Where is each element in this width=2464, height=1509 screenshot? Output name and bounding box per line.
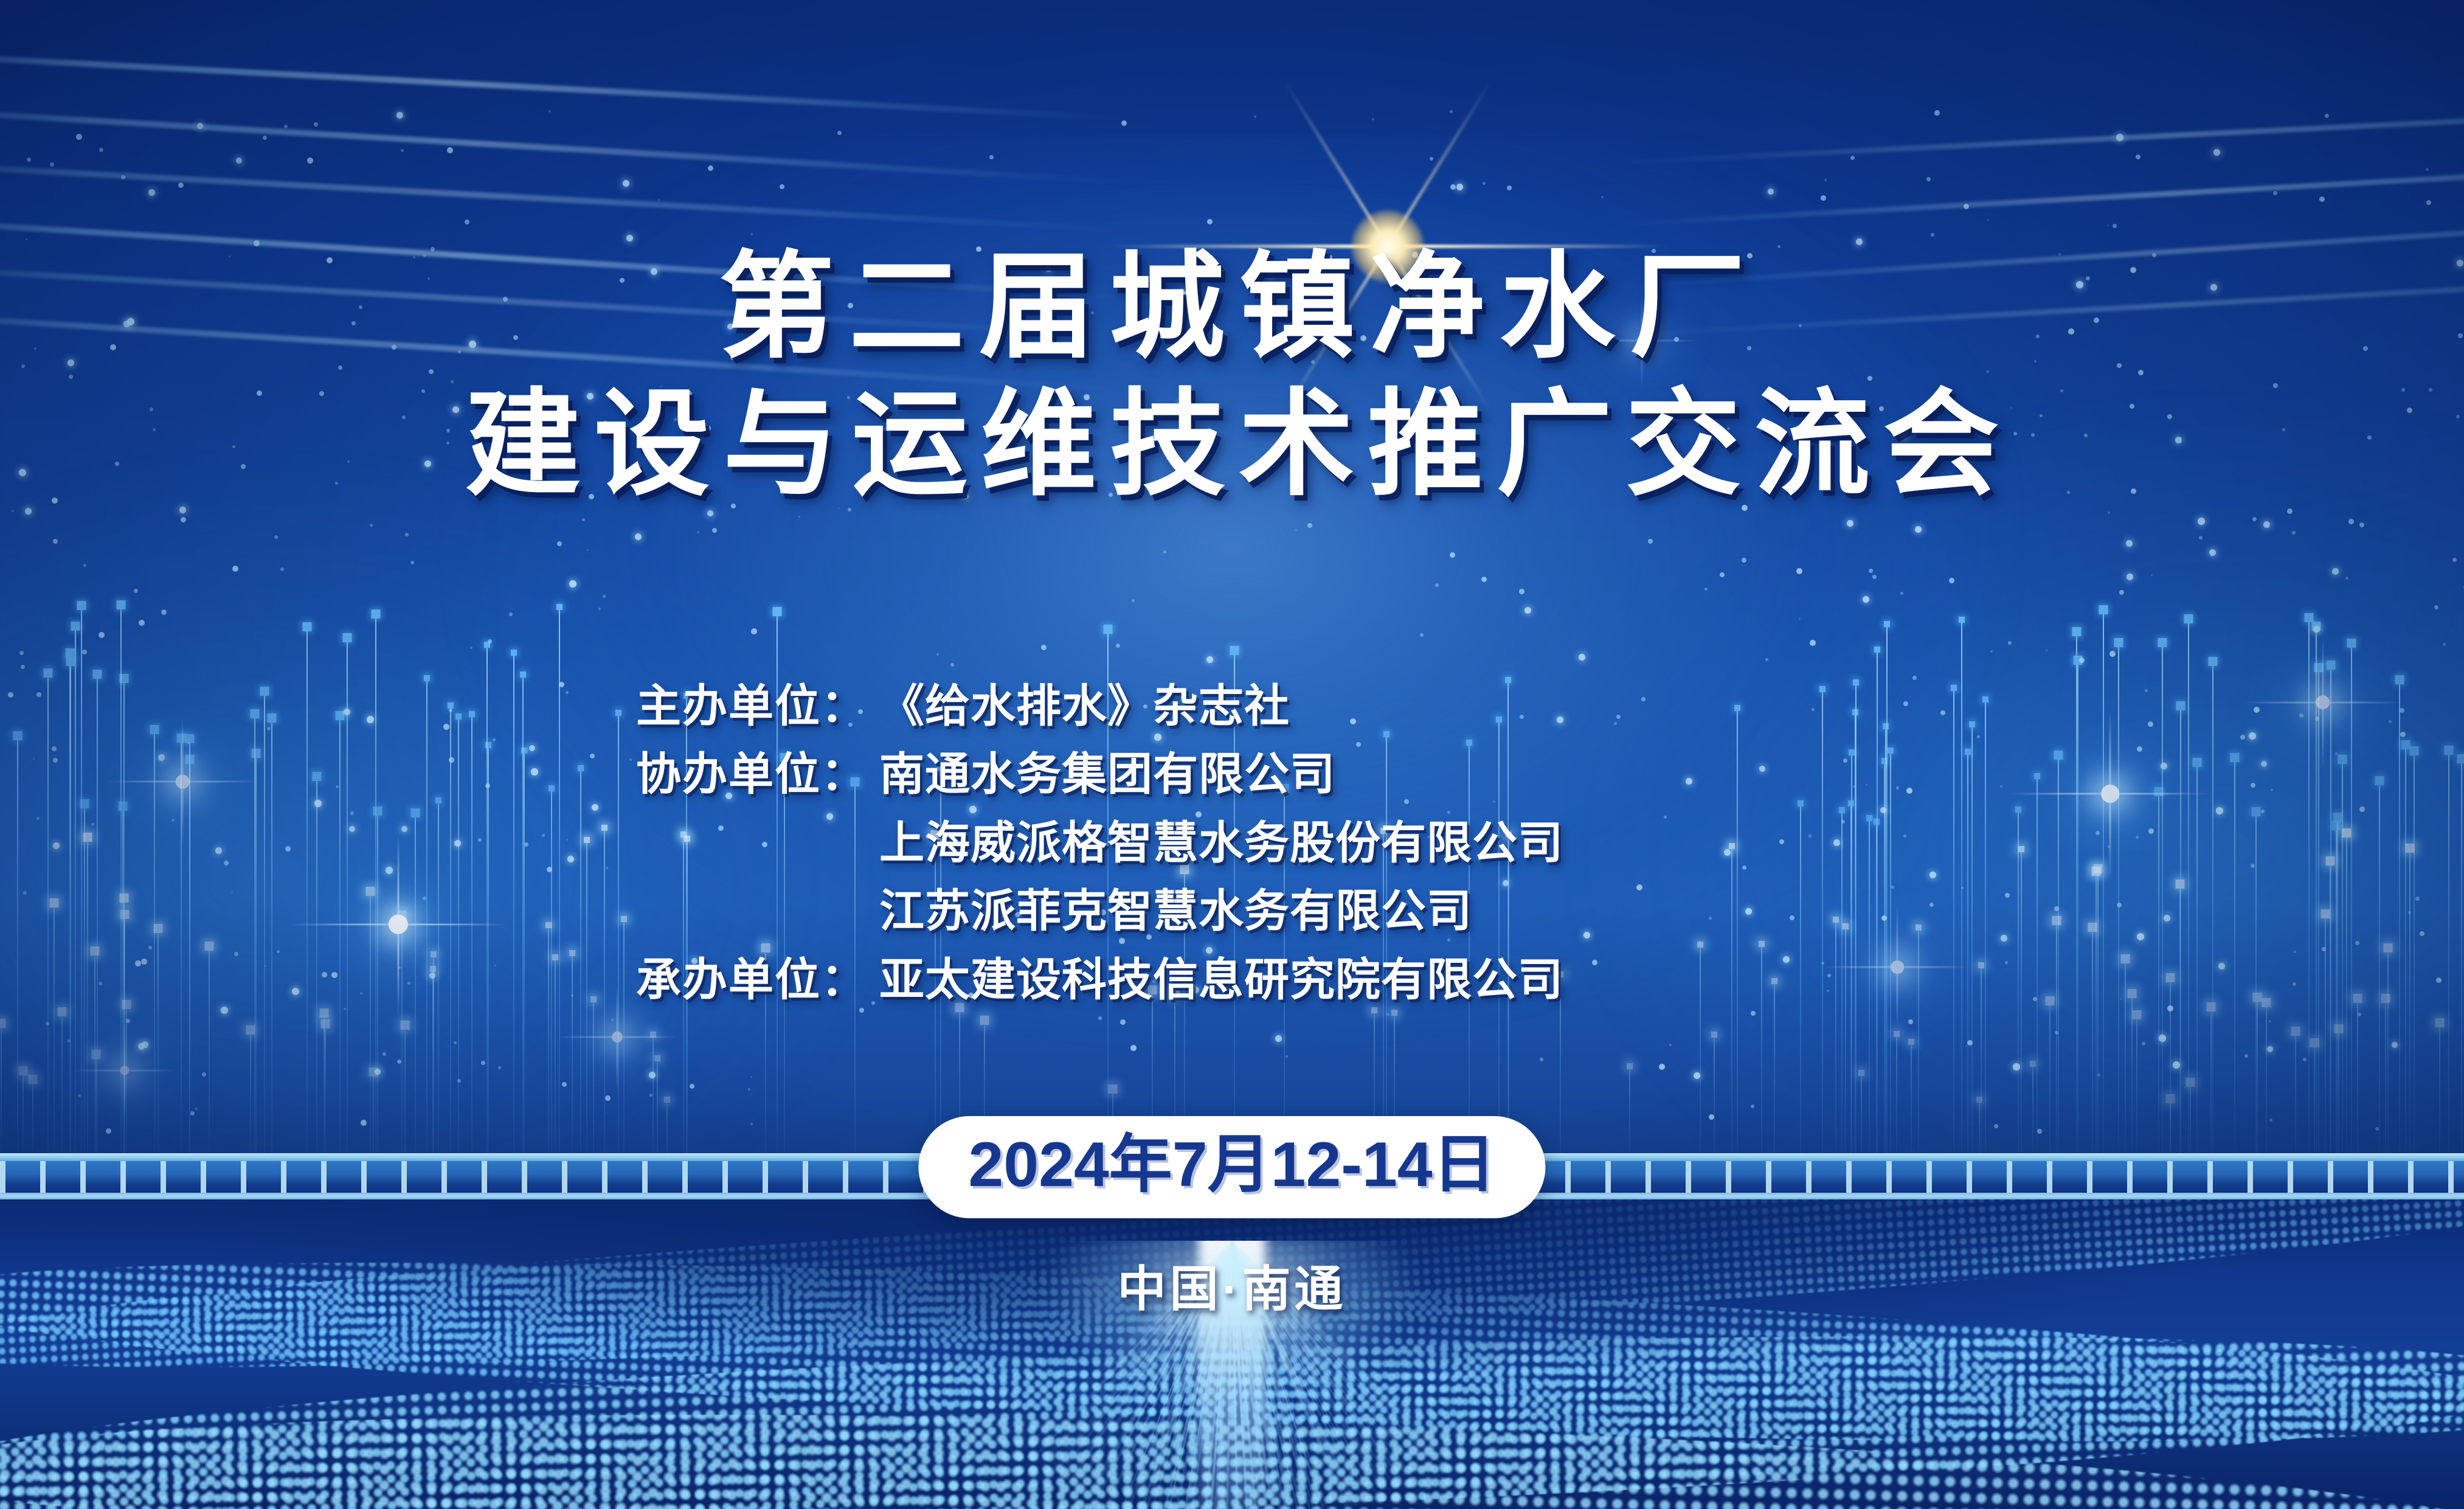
organizer-value: 江苏派菲克智慧水务有限公司 bbox=[879, 877, 1472, 945]
organizer-row: 协办单位：南通水务集团有限公司 bbox=[636, 740, 1828, 808]
dot-matrix-wave-terrain bbox=[0, 1197, 2464, 1509]
poster-title: 第二届城镇净水厂 建设与运维技术推广交流会 bbox=[0, 249, 2464, 502]
organizer-value: 《给水排水》杂志社 bbox=[879, 672, 1290, 740]
organizer-row: 承办单位：亚太建设科技信息研究院有限公司 bbox=[636, 946, 1828, 1014]
organizer-label: 承办单位： bbox=[636, 946, 879, 1014]
organizer-row: 协办单位：上海威派格智慧水务股份有限公司 bbox=[636, 809, 1828, 877]
event-date-badge: 2024年7月12-14日 bbox=[918, 1116, 1545, 1218]
conference-poster: 第二届城镇净水厂 建设与运维技术推广交流会 主办单位：《给水排水》杂志社协办单位… bbox=[0, 0, 2464, 1509]
event-date-text: 2024年7月12-14日 bbox=[968, 1129, 1495, 1200]
organizer-label: 协办单位： bbox=[636, 740, 879, 808]
terrain-fade-mask bbox=[0, 1197, 2464, 1509]
organizer-value: 亚太建设科技信息研究院有限公司 bbox=[879, 946, 1563, 1014]
organizer-label: 主办单位： bbox=[636, 672, 879, 740]
event-location-text: 中国·南通 bbox=[1118, 1250, 1347, 1320]
organizer-block: 主办单位：《给水排水》杂志社协办单位：南通水务集团有限公司协办单位：上海威派格智… bbox=[0, 672, 2464, 1014]
organizer-value: 上海威派格智慧水务股份有限公司 bbox=[879, 809, 1563, 877]
organizer-value: 南通水务集团有限公司 bbox=[879, 740, 1335, 808]
organizer-row: 主办单位：《给水排水》杂志社 bbox=[636, 672, 1828, 740]
title-line-1: 第二届城镇净水厂 bbox=[0, 249, 2464, 365]
title-line-2: 建设与运维技术推广交流会 bbox=[0, 387, 2464, 502]
organizer-row: 协办单位：江苏派菲克智慧水务有限公司 bbox=[636, 877, 1828, 945]
